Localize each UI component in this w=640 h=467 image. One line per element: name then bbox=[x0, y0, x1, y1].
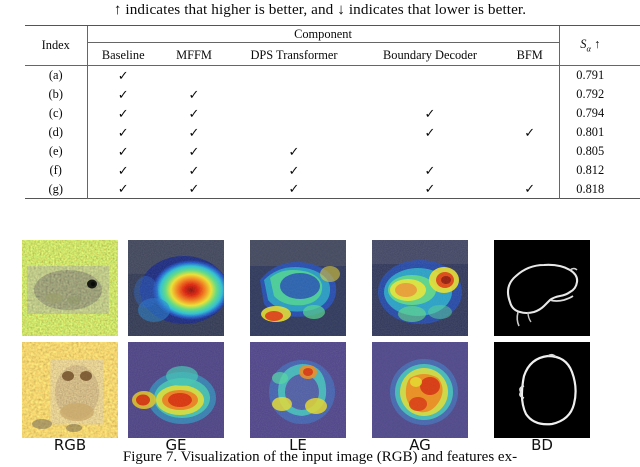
cell-dps: ✓ bbox=[229, 142, 359, 161]
heatmap-ge-row1 bbox=[128, 240, 224, 336]
image-rgb-row2 bbox=[22, 342, 118, 438]
cell-e-phi: 0 bbox=[621, 142, 640, 161]
header-s-alpha-arrow: ↑ bbox=[594, 37, 600, 51]
header-boundary-decoder: Boundary Decoder bbox=[359, 45, 501, 65]
cell-e-phi: 0 bbox=[621, 123, 640, 142]
heatmap-le-row2 bbox=[250, 342, 346, 438]
feature-visualization-grid bbox=[0, 240, 640, 438]
cell-s-alpha: 0.818 bbox=[559, 180, 621, 199]
cell-mffm: ✓ bbox=[159, 161, 229, 180]
row-index: (e) bbox=[25, 142, 87, 161]
cell-baseline: ✓ bbox=[87, 123, 159, 142]
header-s-alpha-sub: α bbox=[586, 43, 591, 53]
cell-mffm: ✓ bbox=[159, 104, 229, 123]
header-component-label: Component bbox=[294, 27, 352, 41]
row-index: (g) bbox=[25, 180, 87, 199]
heatmap-ge-row2 bbox=[128, 342, 224, 438]
cell-e-phi: 0 bbox=[621, 161, 640, 180]
cell-baseline: ✓ bbox=[87, 66, 159, 85]
row-index: (d) bbox=[25, 123, 87, 142]
cell-e-phi: 0 bbox=[621, 66, 640, 85]
cell-s-alpha: 0.801 bbox=[559, 123, 621, 142]
header-s-alpha: Sα ↑ bbox=[559, 26, 621, 65]
cell-mffm: ✓ bbox=[159, 85, 229, 104]
cell-dps: ✓ bbox=[229, 161, 359, 180]
image-rgb-row1 bbox=[22, 240, 118, 336]
ablation-table: Index Component Sα ↑ E Baseline MFFM DPS… bbox=[25, 25, 640, 199]
table-bottom-rule bbox=[25, 199, 640, 200]
cell-baseline: ✓ bbox=[87, 85, 159, 104]
cell-boundary-decoder: ✓ bbox=[359, 123, 501, 142]
row-index: (f) bbox=[25, 161, 87, 180]
cell-dps bbox=[229, 104, 359, 123]
cell-bfm: ✓ bbox=[501, 123, 559, 142]
cell-boundary-decoder bbox=[359, 66, 501, 85]
cell-s-alpha: 0.791 bbox=[559, 66, 621, 85]
header-dps-transformer: DPS Transformer bbox=[229, 45, 359, 65]
cell-mffm: ✓ bbox=[159, 142, 229, 161]
cell-bfm bbox=[501, 66, 559, 85]
header-e-phi: E bbox=[621, 26, 640, 65]
heatmap-ag-row1 bbox=[372, 240, 468, 336]
header-baseline: Baseline bbox=[87, 45, 159, 65]
cell-boundary-decoder: ✓ bbox=[359, 104, 501, 123]
cell-bfm bbox=[501, 142, 559, 161]
heatmap-le-row1 bbox=[250, 240, 346, 336]
row-index: (c) bbox=[25, 104, 87, 123]
cell-baseline: ✓ bbox=[87, 104, 159, 123]
cell-e-phi: 0 bbox=[621, 104, 640, 123]
table-group-header-row: Index Component Sα ↑ E bbox=[25, 26, 640, 45]
cell-mffm: ✓ bbox=[159, 180, 229, 199]
cell-mffm: ✓ bbox=[159, 123, 229, 142]
table-subheader-row: Baseline MFFM DPS Transformer Boundary D… bbox=[25, 45, 640, 65]
figure-caption: Figure 7. Visualization of the input ima… bbox=[0, 448, 640, 467]
table-row: (b) ✓ ✓ 0.792 0 bbox=[25, 85, 640, 104]
header-mffm: MFFM bbox=[159, 45, 229, 65]
table-row: (g) ✓ ✓ ✓ ✓ ✓ 0.818 0 bbox=[25, 180, 640, 199]
cell-baseline: ✓ bbox=[87, 180, 159, 199]
cell-s-alpha: 0.812 bbox=[559, 161, 621, 180]
cell-dps bbox=[229, 66, 359, 85]
header-component-group: Component bbox=[87, 26, 559, 45]
cell-boundary-decoder bbox=[359, 85, 501, 104]
cell-dps bbox=[229, 123, 359, 142]
header-bfm: BFM bbox=[501, 45, 559, 65]
cell-e-phi: 0 bbox=[621, 85, 640, 104]
cell-e-phi: 0 bbox=[621, 180, 640, 199]
table-row: (e) ✓ ✓ ✓ 0.805 0 bbox=[25, 142, 640, 161]
cell-baseline: ✓ bbox=[87, 142, 159, 161]
cell-bfm bbox=[501, 85, 559, 104]
table-row: (f) ✓ ✓ ✓ ✓ 0.812 0 bbox=[25, 161, 640, 180]
cell-bfm: ✓ bbox=[501, 180, 559, 199]
cell-boundary-decoder bbox=[359, 142, 501, 161]
cell-boundary-decoder: ✓ bbox=[359, 161, 501, 180]
table-row: (d) ✓ ✓ ✓ ✓ 0.801 0 bbox=[25, 123, 640, 142]
mask-bd-row2 bbox=[494, 342, 590, 438]
cell-s-alpha: 0.805 bbox=[559, 142, 621, 161]
cell-baseline: ✓ bbox=[87, 161, 159, 180]
heatmap-ag-row2 bbox=[372, 342, 468, 438]
cell-s-alpha: 0.792 bbox=[559, 85, 621, 104]
higher-lower-note: ↑ indicates that higher is better, and ↓… bbox=[0, 0, 640, 19]
header-index: Index bbox=[25, 26, 87, 65]
mask-bd-row1 bbox=[494, 240, 590, 336]
row-index: (a) bbox=[25, 66, 87, 85]
cell-boundary-decoder: ✓ bbox=[359, 180, 501, 199]
cell-dps: ✓ bbox=[229, 180, 359, 199]
ablation-table-container: Index Component Sα ↑ E Baseline MFFM DPS… bbox=[25, 25, 640, 199]
figure-row-1 bbox=[0, 240, 640, 336]
cell-bfm bbox=[501, 161, 559, 180]
cell-mffm bbox=[159, 66, 229, 85]
figure-row-2 bbox=[0, 342, 640, 438]
cell-dps bbox=[229, 85, 359, 104]
cell-s-alpha: 0.794 bbox=[559, 104, 621, 123]
table-row: (c) ✓ ✓ ✓ 0.794 0 bbox=[25, 104, 640, 123]
table-row: (a) ✓ 0.791 0 bbox=[25, 66, 640, 85]
cell-bfm bbox=[501, 104, 559, 123]
row-index: (b) bbox=[25, 85, 87, 104]
